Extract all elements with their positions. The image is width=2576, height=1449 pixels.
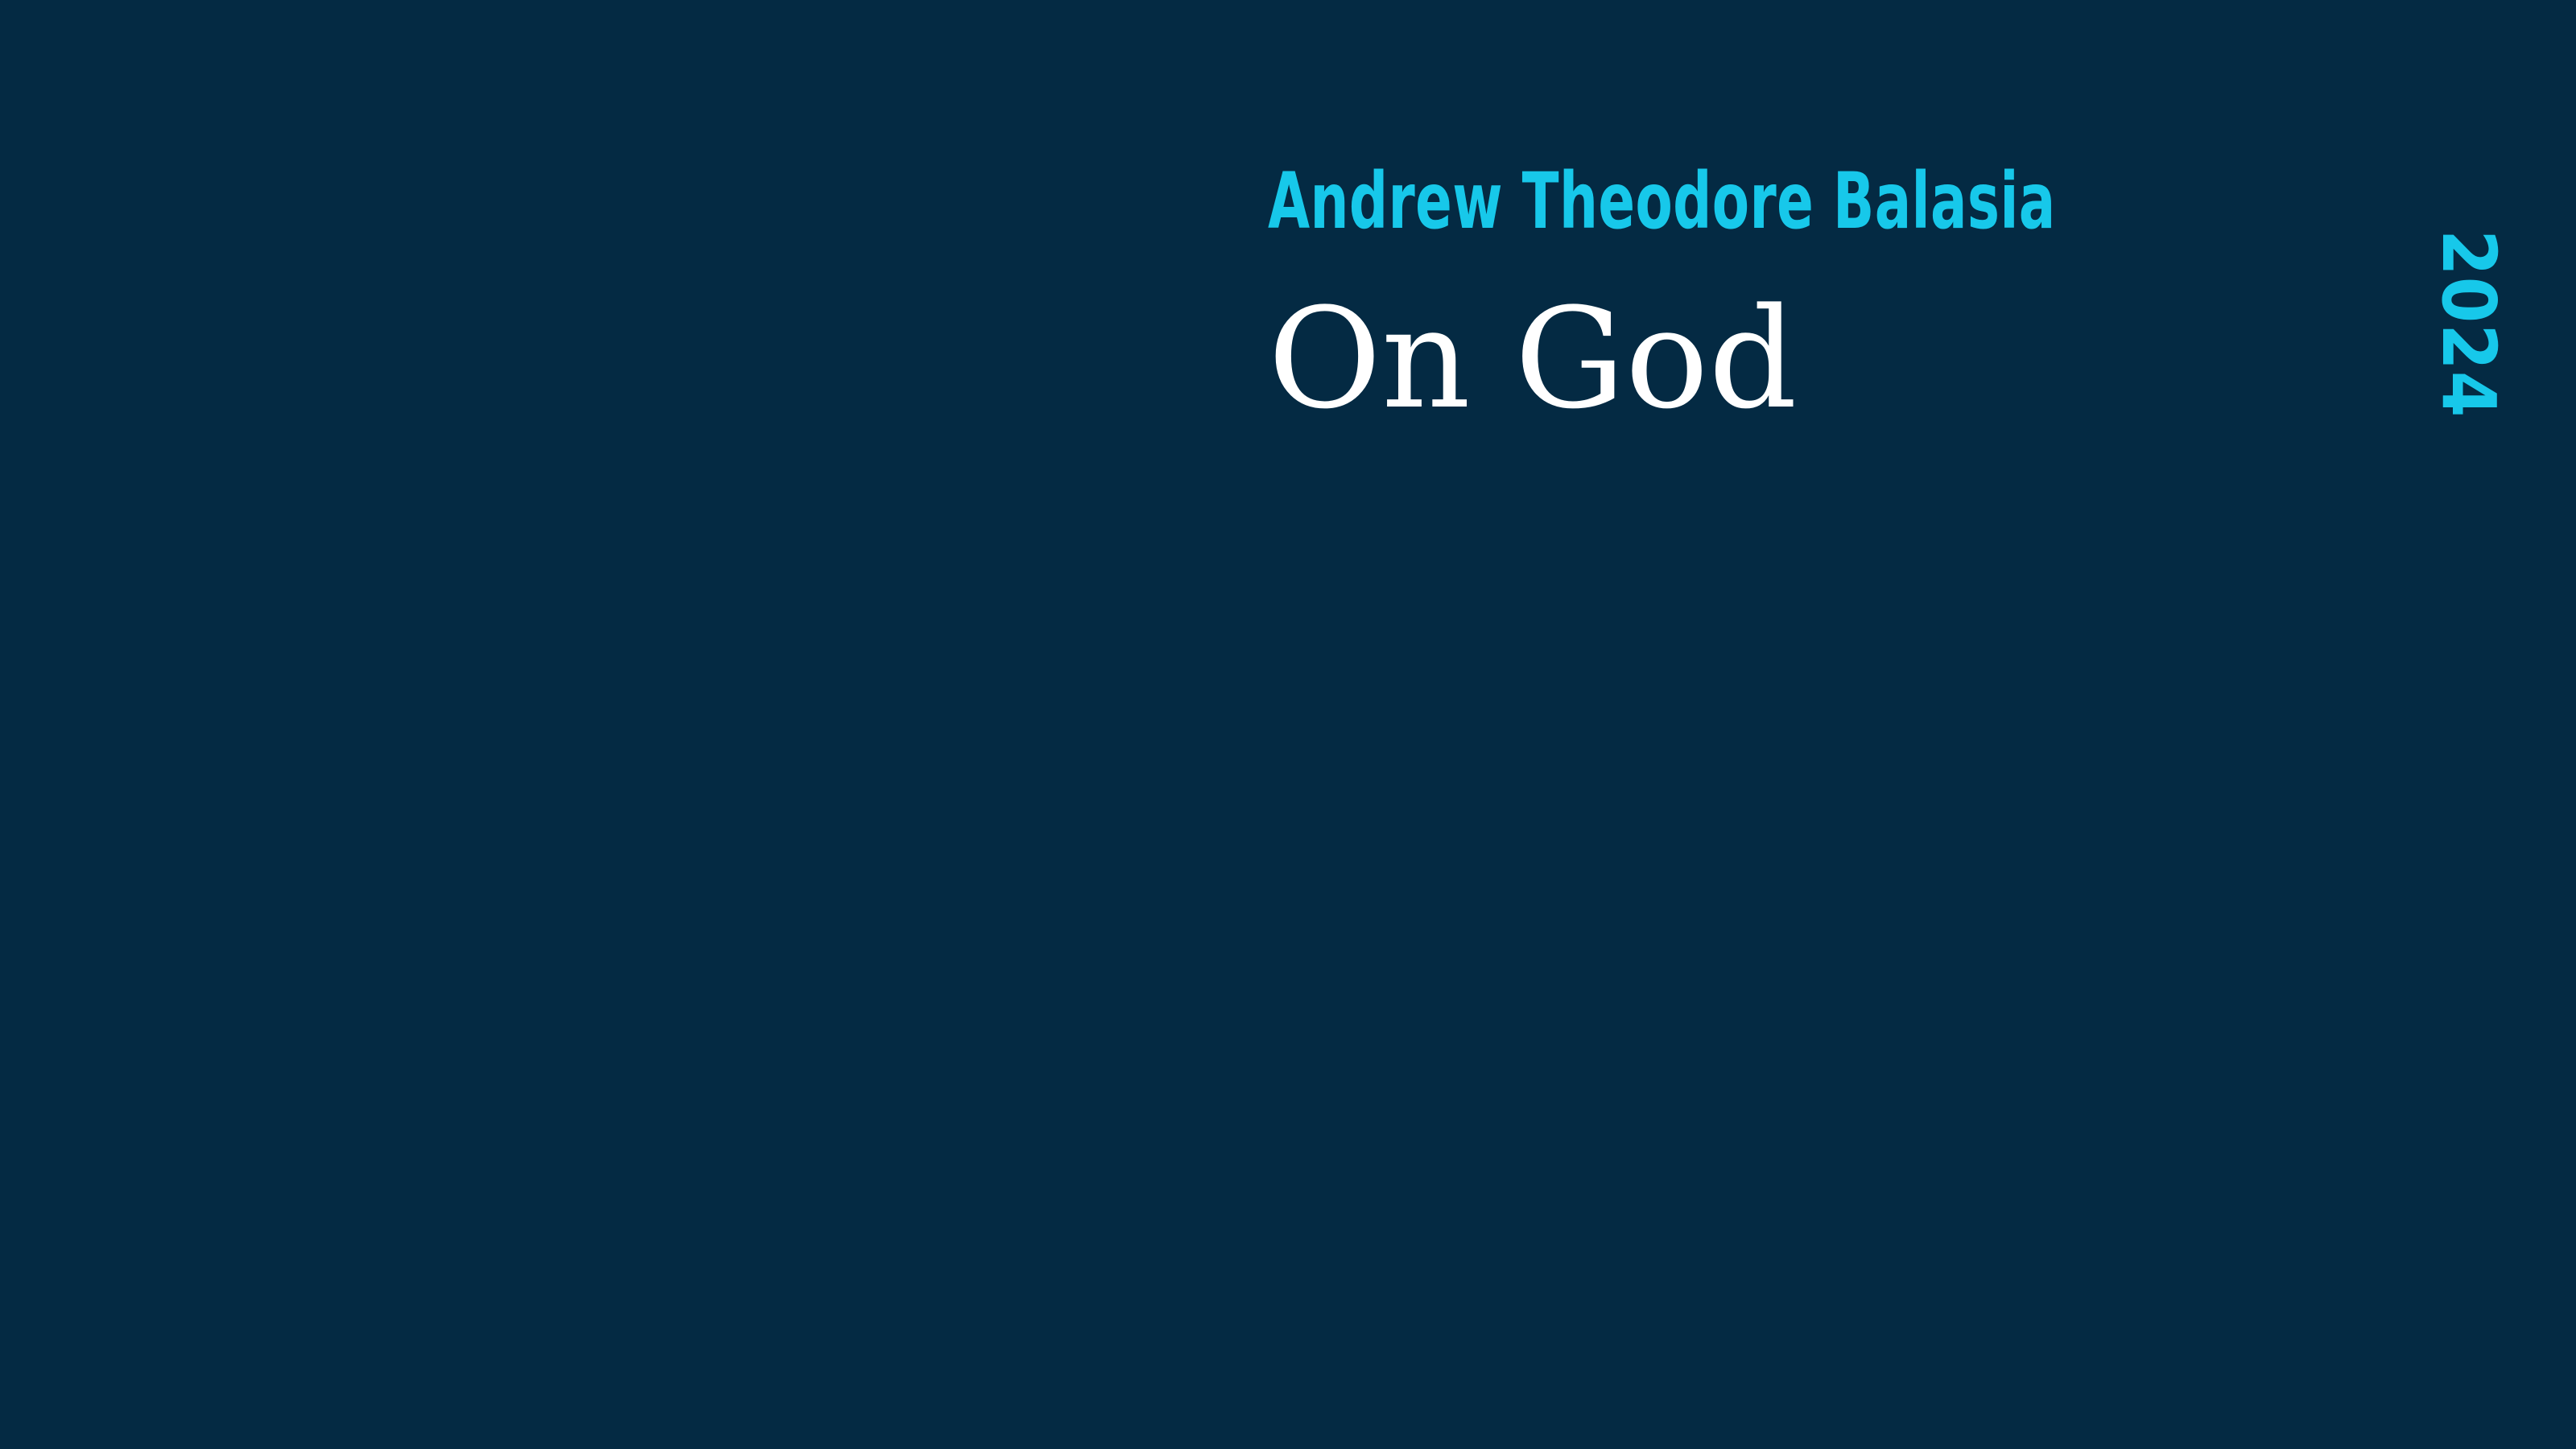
title-block: Andrew Theodore Balasia On God — [1268, 121, 2379, 428]
author-name: Andrew Theodore Balasia — [1268, 121, 2134, 240]
year-label: 2024 — [2431, 229, 2505, 418]
year-rail: 2024 — [2433, 229, 2505, 423]
title-slide: Andrew Theodore Balasia On God 2024 — [0, 0, 2576, 1449]
content-area — [0, 499, 2576, 1449]
page-title: On God — [1268, 290, 2379, 428]
